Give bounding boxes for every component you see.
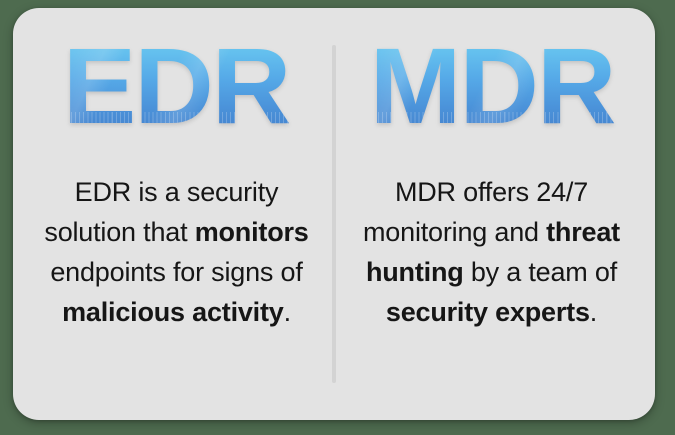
mdr-description: MDR offers 24/7 monitoring and threat hu…	[352, 172, 631, 332]
body-text: .	[590, 297, 597, 327]
emphasis-text: monitors	[195, 217, 309, 247]
edr-column: EDR EDR is a security solution that moni…	[13, 8, 334, 420]
edr-description: EDR is a security solution that monitors…	[37, 172, 316, 332]
mdr-column: MDR MDR offers 24/7 monitoring and threa…	[334, 8, 655, 420]
body-text: by a team of	[464, 257, 617, 287]
emphasis-text: malicious activity	[62, 297, 284, 327]
body-text: .	[284, 297, 291, 327]
edr-heading: EDR	[63, 34, 289, 138]
mdr-heading: MDR	[369, 34, 614, 138]
emphasis-text: security experts	[386, 297, 590, 327]
comparison-card: EDR EDR is a security solution that moni…	[13, 8, 655, 420]
body-text: endpoints for signs of	[50, 257, 302, 287]
